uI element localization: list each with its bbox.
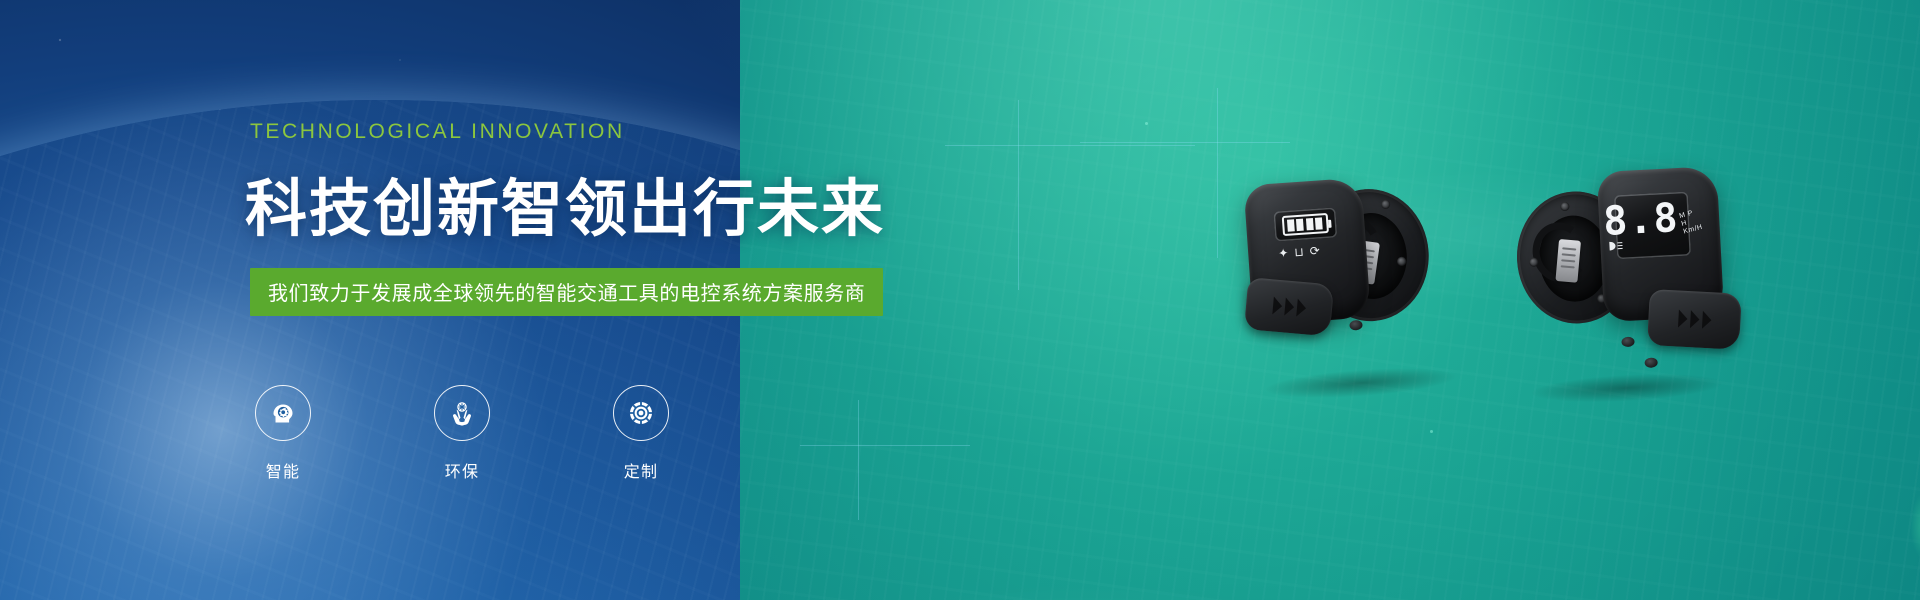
subtitle-text: 我们致力于发展成全球领先的智能交通工具的电控系统方案服务商 — [268, 283, 865, 305]
battery-level-indicator — [1282, 213, 1329, 236]
product-throttle-battery[interactable]: ✦ ⊔ ⟳ — [1242, 153, 1473, 397]
mode-button[interactable] — [1349, 320, 1363, 331]
screw — [1560, 202, 1569, 211]
feature-item-intelligent[interactable]: 智能 — [235, 385, 331, 482]
thumb-throttle-paddle[interactable] — [1244, 277, 1334, 336]
bluetooth-icon: ✦ — [1278, 247, 1289, 260]
headlight-icon — [1608, 239, 1625, 251]
paddle-chevrons — [1647, 289, 1742, 350]
page-title: 科技创新智领出行未来 — [245, 158, 885, 248]
product-showcase: ✦ ⊔ ⟳ — [1250, 150, 1790, 440]
power-button[interactable] — [1644, 357, 1658, 368]
hands-leaf-icon — [447, 398, 477, 428]
feature-label: 环保 — [445, 458, 479, 482]
cable-connector — [1555, 239, 1581, 283]
speed-value: 8.8 — [1602, 201, 1679, 239]
hero-banner: TECHNOLOGICAL INNOVATION 科技创新智领出行未来 我们致力… — [0, 0, 1920, 600]
feature-label: 定制 — [624, 458, 658, 482]
feature-list: 智能 — [235, 385, 689, 482]
hero-content: TECHNOLOGICAL INNOVATION 科技创新智领出行未来 我们致力… — [250, 0, 1010, 600]
paddle-chevrons — [1244, 277, 1334, 336]
feature-icon-circle — [255, 385, 311, 441]
screw — [1381, 200, 1391, 210]
feature-icon-circle — [434, 385, 490, 441]
battery-display-screen — [1273, 207, 1337, 241]
feature-label: 智能 — [266, 458, 300, 482]
feature-item-eco[interactable]: 环保 — [414, 385, 510, 482]
status-icon-row: ✦ ⊔ ⟳ — [1278, 245, 1320, 260]
product-throttle-speed[interactable]: 8.8 M P H Km/H — [1512, 148, 1774, 401]
mode-button[interactable] — [1621, 337, 1635, 348]
product-shadow — [1531, 370, 1722, 406]
feature-icon-circle — [613, 385, 669, 441]
custom-gear-icon — [626, 398, 656, 428]
head-gear-icon — [268, 398, 298, 428]
speed-units: M P H Km/H — [1679, 208, 1704, 236]
product-shadow — [1265, 363, 1456, 402]
eyebrow-text: TECHNOLOGICAL INNOVATION — [250, 120, 625, 144]
usb-icon: ⊔ — [1294, 246, 1304, 259]
thumb-throttle-paddle[interactable] — [1647, 289, 1742, 350]
seven-segment-readout: 8.8 M P H Km/H — [1602, 199, 1701, 238]
speed-display-screen: 8.8 M P H Km/H — [1614, 192, 1691, 260]
feature-item-custom[interactable]: 定制 — [593, 385, 689, 482]
subtitle-bar: 我们致力于发展成全球领先的智能交通工具的电控系统方案服务商 — [250, 268, 883, 316]
power-icon: ⟳ — [1309, 245, 1320, 258]
